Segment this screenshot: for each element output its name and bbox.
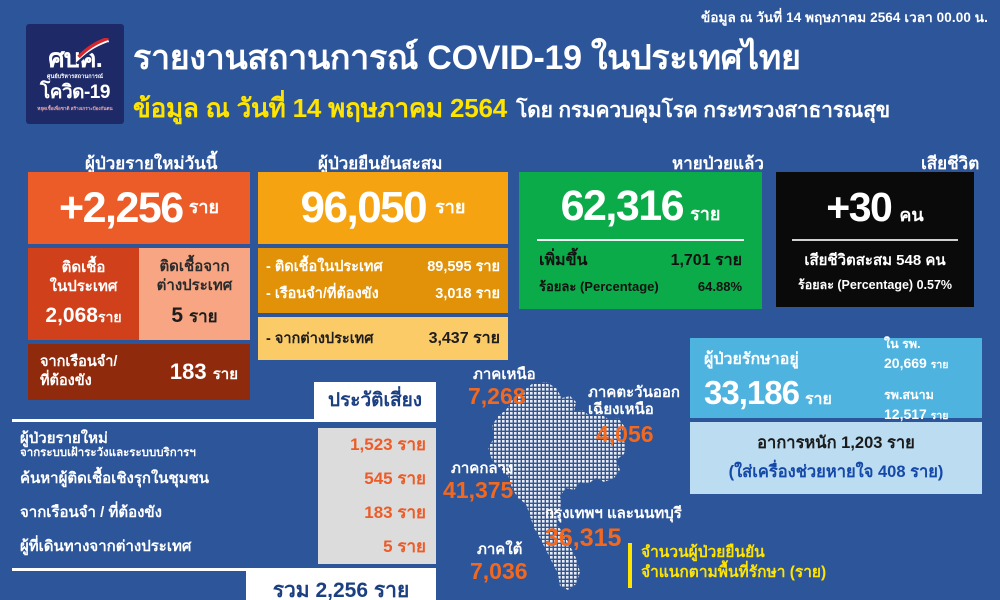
region-value-south: 7,036 — [470, 558, 528, 585]
new-cases-total-box: +2,256 ราย — [28, 172, 250, 244]
prison-label-line1: จากเรือนจำ/ — [40, 353, 117, 372]
abroad-value-wrap: 5 ราย — [171, 303, 217, 330]
card-recovered: 62,316 ราย เพิ่มขึ้น 1,701 ราย ร้อยละ (P… — [519, 172, 762, 309]
deaths-total-unit: คน — [899, 200, 923, 229]
treatment-field-hospital-value: 12,517 — [884, 406, 927, 422]
risk-item-sublabel: จากระบบเฝ้าระวังและระบบบริการฯ — [20, 447, 310, 460]
legend-bar — [628, 543, 632, 588]
cumulative-row: - ติดเชื้อในประเทศ 89,595 ราย — [266, 255, 500, 278]
recovered-percentage-label: ร้อยละ (Percentage) — [539, 276, 698, 297]
prison-value: 183 — [170, 359, 207, 384]
report-timestamp: ข้อมูล ณ วันที่ 14 พฤษภาคม 2564 เวลา 00.… — [701, 6, 988, 28]
treatment-panel: ผู้ป่วยรักษาอยู่ 33,186 ราย ใน รพ. 20,66… — [690, 338, 982, 494]
recovered-increase-row: เพิ่มขึ้น 1,701 ราย — [533, 248, 748, 273]
risk-item-label: ค้นหาผู้ติดเชื้อเชิงรุกในชุมชน — [20, 470, 310, 487]
new-cases-abroad: ติดเชื้อจาก ต่างประเทศ 5 ราย — [139, 248, 250, 340]
region-value-central: 41,375 — [443, 477, 513, 504]
cumulative-total-box: 96,050 ราย — [258, 172, 508, 244]
card-new-cases: +2,256 ราย ติดเชื้อ ในประเทศ 2,068ราย ติ… — [28, 172, 250, 400]
cumulative-row-value: 3,018 ราย — [435, 282, 500, 305]
treatment-hospital-unit: ราย — [931, 359, 949, 371]
new-cases-total-unit: ราย — [189, 192, 219, 225]
cumulative-abroad-row: - จากต่างประเทศ 3,437 ราย — [258, 317, 508, 360]
domestic-label-line2: ในประเทศ — [50, 278, 118, 297]
treatment-hospital: ใน รพ. 20,669 ราย — [884, 334, 982, 373]
recovered-increase-value: 1,701 ราย — [671, 248, 742, 273]
logo-line4: หยุดเชื้อเพื่อชาติ สร้างเกราะป้องกันตน — [37, 106, 112, 113]
page-subtitle: ข้อมูล ณ วันที่ 14 พฤษภาคม 2564 โดย กรมค… — [133, 88, 890, 129]
cumulative-row-value: 89,595 ราย — [427, 255, 500, 278]
treatment-field-hospital-unit: ราย — [931, 410, 949, 422]
deaths-total: +30 — [826, 184, 891, 231]
treatment-hospital-label: ใน รพ. — [884, 334, 982, 354]
list-item: ค้นหาผู้ติดเชื้อเชิงรุกในชุมชน 545 ราย — [12, 462, 436, 496]
new-cases-domestic: ติดเชื้อ ในประเทศ 2,068ราย — [28, 248, 139, 340]
risk-history-total: รวม 2,256 ราย — [246, 571, 436, 600]
treatment-label: ผู้ป่วยรักษาอยู่ — [704, 347, 874, 372]
abroad-label-line2: ต่างประเทศ — [157, 277, 233, 296]
region-value-northeast: 4,056 — [596, 421, 654, 448]
cumulative-total: 96,050 — [301, 183, 427, 233]
risk-history-list: ผู้ป่วยรายใหม่ จากระบบเฝ้าระวังและระบบบร… — [12, 422, 436, 568]
subtitle-date: ข้อมูล ณ วันที่ 14 พฤษภาคม 2564 — [133, 88, 507, 129]
cumulative-row-label: - เรือนจำ/ที่ต้องขัง — [266, 282, 435, 305]
domestic-unit: ราย — [98, 309, 122, 325]
recovered-total-unit: ราย — [690, 199, 720, 228]
risk-item-label: ผู้ที่เดินทางจากต่างประเทศ — [20, 538, 310, 555]
sbk-logo: ศบค. ศูนย์บริหารสถานการณ์ โควิด-19 หยุดเ… — [26, 24, 124, 124]
treatment-top: ผู้ป่วยรักษาอยู่ 33,186 ราย ใน รพ. 20,66… — [690, 338, 982, 418]
deaths-total-box: +30 คน — [788, 184, 962, 231]
region-label-south: ภาคใต้ — [477, 541, 522, 558]
treatment-severe-line: อาการหนัก 1,203 ราย — [700, 430, 972, 456]
region-value-north: 7,268 — [468, 383, 526, 410]
risk-item-value: 5 ราย — [318, 530, 436, 564]
treatment-total: 33,186 — [704, 374, 799, 412]
treatment-ventilator-line: (ใส่เครื่องช่วยหายใจ 408 ราย) — [700, 459, 972, 485]
recovered-total: 62,316 — [561, 182, 684, 231]
recovered-percentage-value: 64.88% — [698, 279, 742, 294]
map-legend: จำนวนผู้ป่วยยืนยัน จำแนกตามพื้นที่รักษา … — [628, 543, 826, 588]
infographic-root: ข้อมูล ณ วันที่ 14 พฤษภาคม 2564 เวลา 00.… — [0, 0, 1000, 600]
treatment-breakdown: ใน รพ. 20,669 ราย รพ.สนาม 12,517 ราย — [874, 338, 982, 418]
cumulative-abroad-value: 3,437 ราย — [429, 326, 500, 351]
subtitle-source: โดย กรมควบคุมโรค กระทรวงสาธารณสุข — [516, 94, 890, 127]
cumulative-row-label: - ติดเชื้อในประเทศ — [266, 255, 427, 278]
risk-history-tag: ประวัติเสี่ยง — [314, 382, 436, 419]
treatment-field-hospital: รพ.สนาม 12,517 ราย — [884, 385, 982, 424]
list-item: ผู้ป่วยรายใหม่ จากระบบเฝ้าระวังและระบบบร… — [12, 428, 436, 462]
card-deaths: +30 คน เสียชีวิตสะสม 548 คน ร้อยละ (Perc… — [776, 172, 974, 307]
treatment-total-unit: ราย — [805, 387, 832, 412]
treatment-field-hospital-label: รพ.สนาม — [884, 385, 982, 405]
region-label-northeast-line1: ภาคตะวันออก — [588, 384, 680, 401]
region-label-bangkok: กรุงเทพฯ และนนทบุรี — [545, 505, 682, 522]
region-label-central: ภาคกลาง — [451, 460, 513, 477]
risk-item-label: จากเรือนจำ / ที่ต้องขัง — [20, 504, 310, 521]
prison-unit: ราย — [213, 366, 238, 383]
risk-item-value: 183 ราย — [318, 496, 436, 530]
divider — [792, 239, 958, 241]
domestic-value: 2,068 — [45, 304, 98, 327]
card-cumulative: 96,050 ราย - ติดเชื้อในประเทศ 89,595 ราย… — [258, 172, 508, 360]
recovered-total-box: 62,316 ราย — [533, 182, 748, 231]
region-label-northeast-line2: เฉียงเหนือ — [588, 401, 680, 418]
logo-line2: ศูนย์บริหารสถานการณ์ — [47, 73, 103, 81]
page-title: รายงานสถานการณ์ COVID-19 ในประเทศไทย — [133, 30, 801, 84]
map-legend-line2: จำแนกตามพื้นที่รักษา (ราย) — [641, 563, 826, 583]
abroad-value: 5 — [171, 304, 183, 327]
cumulative-total-unit: ราย — [435, 192, 465, 225]
risk-history-panel: ประวัติเสี่ยง ผู้ป่วยรายใหม่ จากระบบเฝ้า… — [12, 382, 436, 600]
cumulative-abroad-label: - จากต่างประเทศ — [266, 327, 429, 350]
cumulative-rows: - ติดเชื้อในประเทศ 89,595 ราย - เรือนจำ/… — [258, 248, 508, 313]
region-label-north: ภาคเหนือ — [473, 366, 536, 383]
risk-item-value: 545 ราย — [318, 462, 436, 496]
list-item: จากเรือนจำ / ที่ต้องขัง 183 ราย — [12, 496, 436, 530]
risk-item-label: ผู้ป่วยรายใหม่ — [20, 430, 310, 447]
deaths-percentage: ร้อยละ (Percentage) 0.57% — [788, 275, 962, 295]
abroad-unit: ราย — [189, 307, 218, 326]
abroad-label-line1: ติดเชื้อจาก — [157, 258, 233, 277]
treatment-severe: อาการหนัก 1,203 ราย (ใส่เครื่องช่วยหายใจ… — [690, 422, 982, 494]
deaths-cumulative: เสียชีวิตสะสม 548 คน — [788, 248, 962, 272]
new-cases-total: +2,256 — [59, 184, 183, 233]
treatment-hospital-value: 20,669 — [884, 355, 927, 371]
region-value-bangkok: 36,315 — [545, 524, 621, 553]
recovered-percentage-row: ร้อยละ (Percentage) 64.88% — [533, 276, 748, 297]
domestic-label-line1: ติดเชื้อ — [50, 259, 118, 278]
new-cases-breakdown: ติดเชื้อ ในประเทศ 2,068ราย ติดเชื้อจาก ต… — [28, 248, 250, 340]
map-legend-line1: จำนวนผู้ป่วยยืนยัน — [641, 543, 826, 563]
logo-line3: โควิด-19 — [40, 83, 110, 104]
domestic-value-wrap: 2,068ราย — [45, 304, 121, 329]
list-item: ผู้ที่เดินทางจากต่างประเทศ 5 ราย — [12, 530, 436, 564]
divider — [537, 239, 744, 241]
region-label-northeast: ภาคตะวันออก เฉียงเหนือ — [588, 384, 680, 419]
risk-item-value: 1,523 ราย — [318, 428, 436, 462]
recovered-increase-label: เพิ่มขึ้น — [539, 248, 671, 273]
cumulative-row: - เรือนจำ/ที่ต้องขัง 3,018 ราย — [266, 282, 500, 305]
thai-flag-ribbon-icon — [76, 38, 110, 64]
treatment-main: ผู้ป่วยรักษาอยู่ 33,186 ราย — [690, 338, 874, 418]
